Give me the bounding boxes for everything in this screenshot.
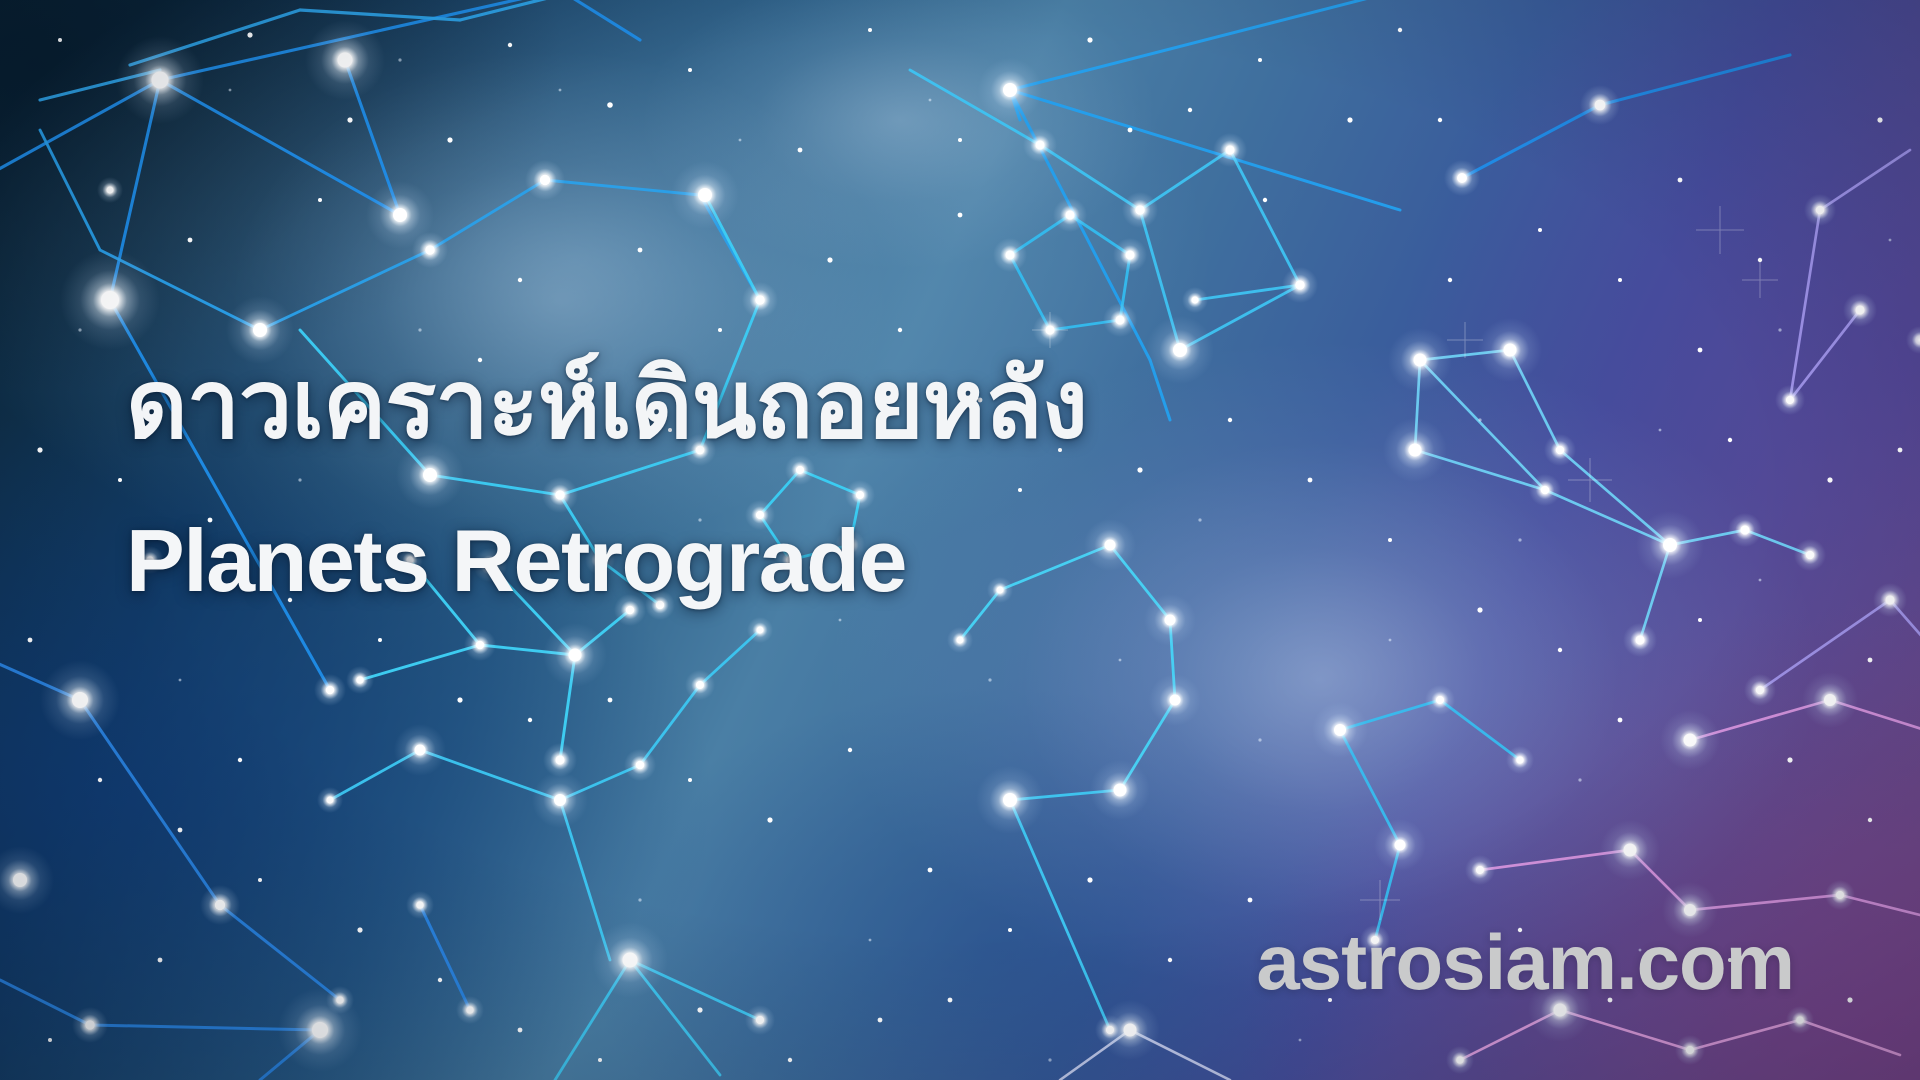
site-watermark: astrosiam.com bbox=[1256, 917, 1794, 1008]
banner-title-block: ดาวเคราะห์เดินถอยหลัง Planets Retrograde bbox=[126, 358, 1087, 605]
headline-english: Planets Retrograde bbox=[126, 517, 1087, 605]
headline-thai: ดาวเคราะห์เดินถอยหลัง bbox=[126, 358, 1087, 453]
astro-banner: ดาวเคราะห์เดินถอยหลัง Planets Retrograde… bbox=[0, 0, 1920, 1080]
